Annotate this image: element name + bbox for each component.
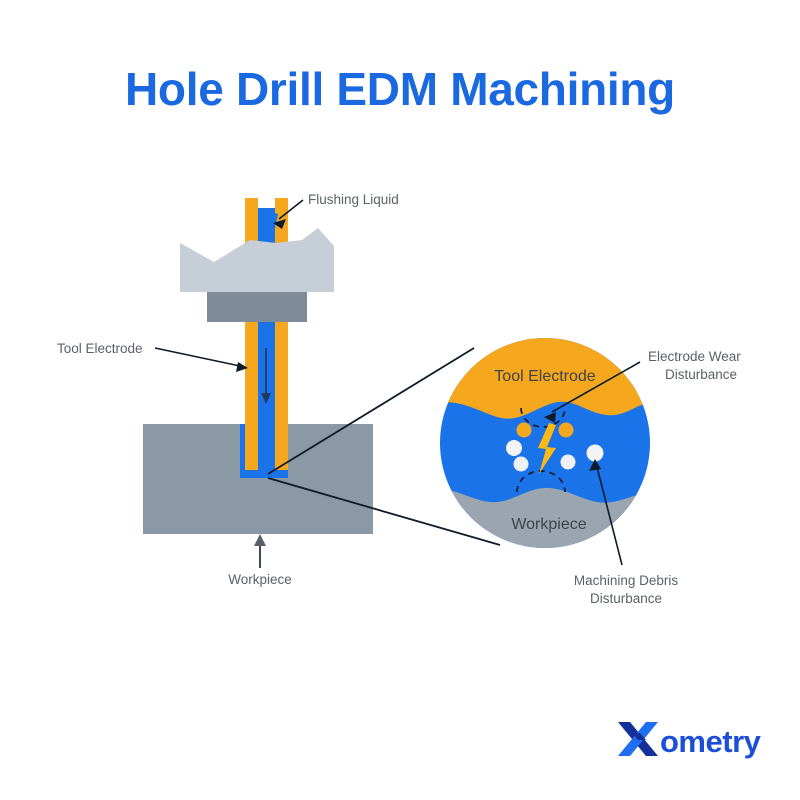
flushing-liquid-callout: Flushing Liquid (273, 192, 399, 229)
debris-particle-white (506, 440, 522, 456)
diagram-root: Hole Drill EDM Machining (0, 0, 800, 800)
electrode-wear-label-line2: Disturbance (665, 367, 737, 382)
tool-electrode-leader (155, 348, 240, 366)
detail-workpiece-label: Workpiece (511, 516, 586, 533)
debris-particle-orange (559, 423, 574, 438)
electrode-wall-left-front (245, 322, 258, 470)
xometry-x-icon (618, 722, 658, 756)
machining-debris-label-line2: Disturbance (590, 591, 662, 606)
magnified-detail-view: Tool Electrode Workpiece (430, 330, 660, 560)
xometry-logo[interactable]: ometry (618, 722, 762, 759)
workpiece-label: Workpiece (228, 572, 292, 587)
electrode-wall-right-front (275, 322, 288, 470)
debris-particle-orange (517, 423, 532, 438)
debris-particle-white (587, 445, 604, 462)
tool-electrode-callout: Tool Electrode (57, 341, 248, 372)
flushing-liquid-label: Flushing Liquid (308, 192, 399, 207)
diagram-canvas: Flushing Liquid Tool Electrode Workpiece (0, 0, 800, 800)
machine-schematic: Flushing Liquid Tool Electrode Workpiece (57, 192, 399, 587)
workpiece-callout: Workpiece (228, 534, 292, 587)
workpiece-arrowhead (254, 534, 266, 546)
debris-particle-white (561, 455, 576, 470)
debris-particle-white (514, 457, 529, 472)
xometry-wordmark: ometry (660, 724, 762, 759)
tool-electrode-label: Tool Electrode (57, 341, 143, 356)
detail-tool-electrode-label: Tool Electrode (494, 368, 595, 385)
machine-chuck-block (207, 292, 307, 322)
electrode-wear-label-line1: Electrode Wear (648, 349, 741, 364)
machining-debris-label-line1: Machining Debris (574, 573, 679, 588)
